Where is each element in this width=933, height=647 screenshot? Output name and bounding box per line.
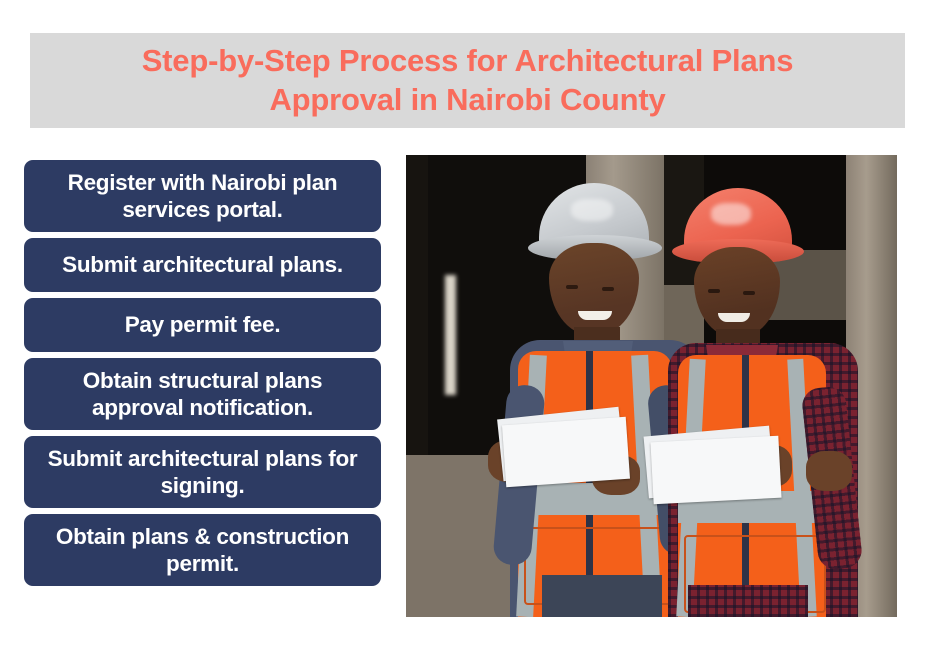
background-light-strip xyxy=(445,275,456,395)
worker-right-papers-front xyxy=(650,436,781,505)
step-item-5[interactable]: Submit architectural plans for signing. xyxy=(24,436,381,508)
step-item-3[interactable]: Pay permit fee. xyxy=(24,298,381,352)
white-hard-hat-gloss xyxy=(571,199,613,221)
step-label-3: Pay permit fee. xyxy=(125,311,281,338)
worker-right-hand-right xyxy=(806,451,852,491)
step-label-2: Submit architectural plans. xyxy=(62,251,343,278)
worker-left-eye-left xyxy=(566,285,578,289)
step-item-2[interactable]: Submit architectural plans. xyxy=(24,238,381,292)
steps-list: Register with Nairobi plan services port… xyxy=(24,160,381,617)
page-title: Step-by-Step Process for Architectural P… xyxy=(118,42,818,120)
photo-scene xyxy=(406,155,897,617)
step-item-1[interactable]: Register with Nairobi plan services port… xyxy=(24,160,381,232)
worker-left-papers-front xyxy=(502,417,630,487)
step-label-1: Register with Nairobi plan services port… xyxy=(36,169,369,224)
red-hard-hat-gloss xyxy=(711,203,751,225)
worker-left-eye-right xyxy=(602,287,614,291)
worker-right-eye-left xyxy=(708,289,720,293)
step-label-6: Obtain plans & construction permit. xyxy=(36,523,369,578)
step-item-4[interactable]: Obtain structural plans approval notific… xyxy=(24,358,381,430)
construction-workers-photo xyxy=(406,155,897,617)
title-banner: Step-by-Step Process for Architectural P… xyxy=(30,33,905,128)
worker-right-lower-shirt xyxy=(688,585,808,617)
step-item-6[interactable]: Obtain plans & construction permit. xyxy=(24,514,381,586)
worker-right-eye-right xyxy=(743,291,755,295)
step-label-4: Obtain structural plans approval notific… xyxy=(36,367,369,422)
worker-left-pants xyxy=(542,575,662,617)
step-label-5: Submit architectural plans for signing. xyxy=(36,445,369,500)
worker-left-smile xyxy=(578,311,612,320)
worker-right-smile xyxy=(718,313,750,322)
